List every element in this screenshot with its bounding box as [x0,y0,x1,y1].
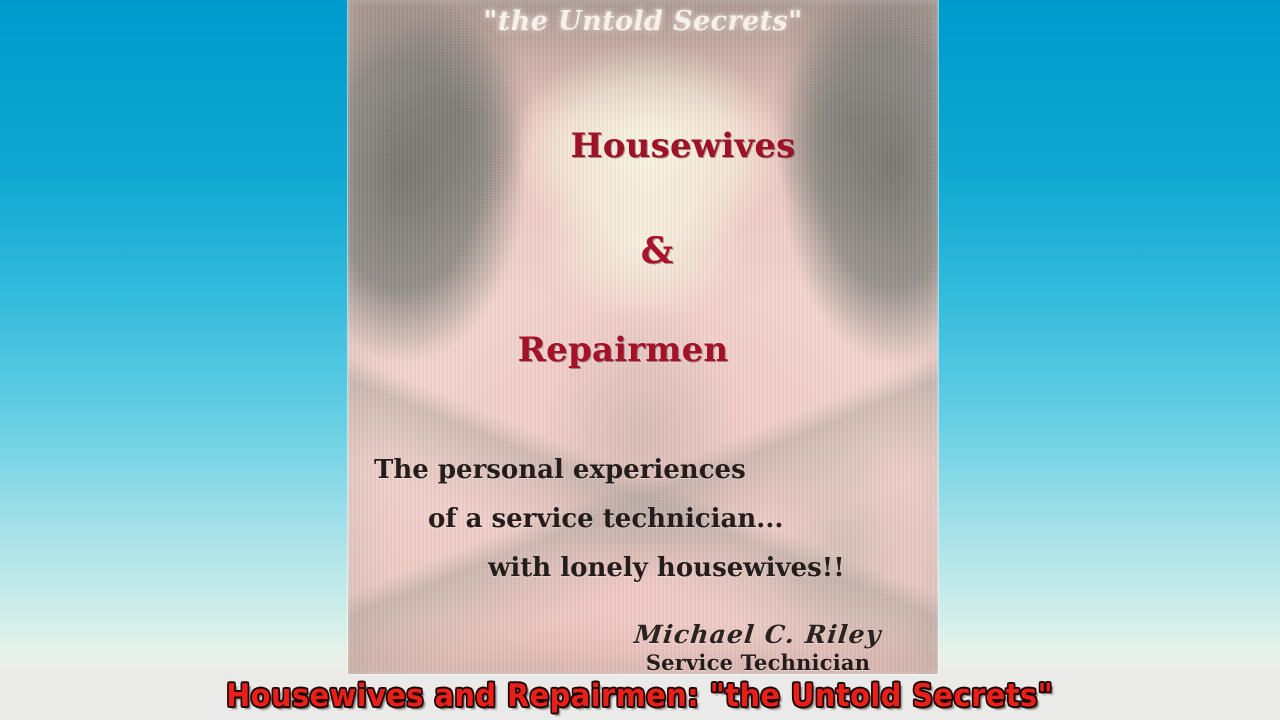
product-title-caption: Housewives and Repairmen: "the Untold Se… [226,678,1053,714]
cover-title-line-1: Housewives [348,126,938,166]
cover-title-ampersand: & [348,230,938,272]
cover-blurb-line-1: The personal experiences [370,446,930,495]
cover-tagline: "the Untold Secrets" [348,6,938,37]
book-cover-image[interactable]: "the Untold Secrets" Housewives & Repair… [348,0,938,674]
cover-blurb-line-3: with lonely housewives!! [370,544,930,593]
caption-bar: Housewives and Repairmen: "the Untold Se… [0,672,1280,720]
cover-author-signature: Michael C. Riley [348,620,938,649]
product-image-canvas: "the Untold Secrets" Housewives & Repair… [0,0,1280,720]
cover-title-line-2: Repairmen [348,330,938,370]
cover-blurb-line-2: of a service technician... [370,495,930,544]
cover-blurb: The personal experiences of a service te… [370,446,930,593]
cover-author-role: Service Technician [348,650,938,674]
